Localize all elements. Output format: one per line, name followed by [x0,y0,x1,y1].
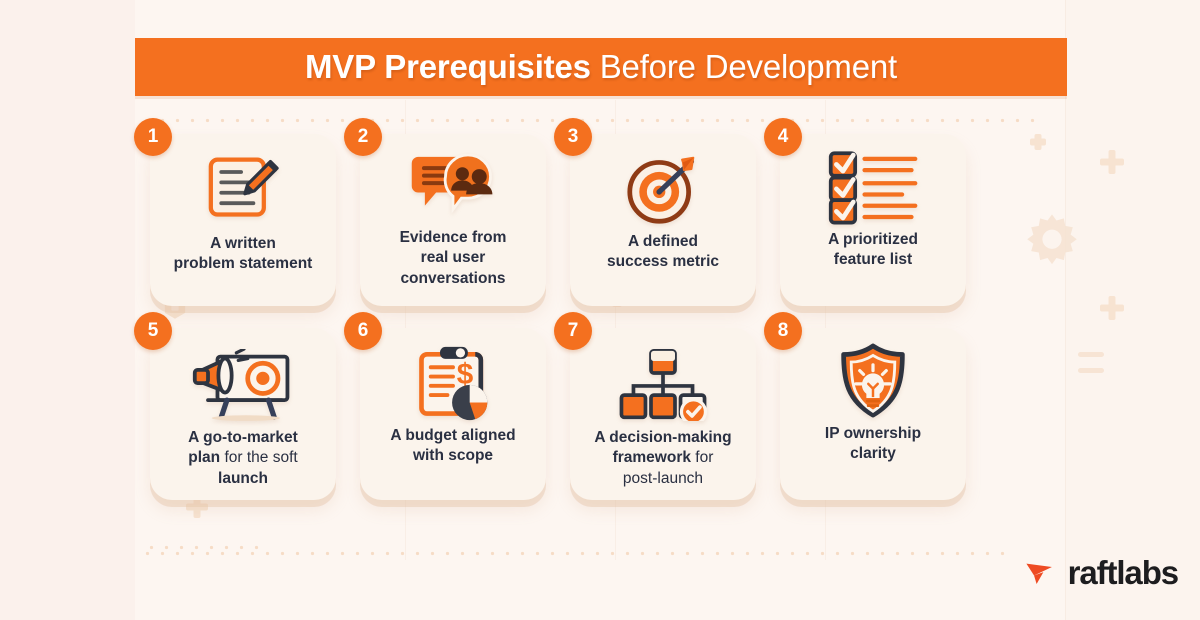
card-3-success-metric[interactable]: 3 A defined success metric [570,134,756,306]
card-2-user-evidence[interactable]: 2 [360,134,546,306]
card-5-caption-line2-light: for the soft [220,449,298,466]
decor-dotted-line [144,545,264,550]
decor-plus-icon [1100,296,1124,320]
card-4-caption-line2: feature list [834,251,912,268]
card-2-caption-line2: real user [421,249,486,266]
card-4-caption: A prioritized feature list [816,230,930,271]
card-7-caption-line1: A decision-making [594,429,731,446]
card-8-caption: IP ownership clarity [813,424,933,465]
card-7-caption-line3: post-launch [623,470,703,487]
target-arrow-icon [623,146,703,232]
card-6-budget-scope[interactable]: 6 $ [360,328,546,500]
background-left-strip [0,0,135,620]
document-pencil-icon [205,146,281,232]
infographic-canvas: MVP Prerequisites Before Development 1 [0,0,1200,620]
decor-dotted-line [140,551,1010,556]
card-8-caption-line2: clarity [850,445,896,462]
card-2-caption-line1: Evidence from [400,229,507,246]
card-5-caption: A go-to-market plan for the soft launch [176,428,310,489]
card-3-caption-line2: success metric [607,253,719,270]
org-chart-check-icon [617,342,709,428]
card-4-prioritized-features[interactable]: 4 [780,134,966,306]
card-2-caption: Evidence from real user conversations [388,228,519,289]
shield-lightbulb-icon [837,338,909,424]
card-3-caption-line1: A defined [628,233,698,250]
card-5-caption-line2-bold: plan [188,449,220,466]
decor-dotted-line [140,118,1040,123]
card-1-written-problem-statement[interactable]: 1 [150,134,336,306]
decor-dash [1078,368,1104,373]
card-6-caption: A budget aligned with scope [378,426,527,467]
card-5-go-to-market-plan[interactable]: 5 [150,328,336,500]
card-7-caption-line2-light: for [691,449,713,466]
card-1-caption-line1: A written [210,235,276,252]
page-title-bold: MVP Prerequisites [305,48,591,85]
cards-row-1: 1 [150,134,1050,306]
decor-dash [1078,352,1104,357]
background-right-strip [1065,0,1200,620]
card-5-number-badge: 5 [134,312,172,350]
title-banner: MVP Prerequisites Before Development [135,38,1067,96]
card-2-caption-line3: conversations [400,270,505,287]
checklist-icon [827,144,919,230]
card-1-caption: A written problem statement [162,234,325,275]
decor-plus-icon [1100,150,1124,174]
card-7-caption-line2-bold: framework [613,449,691,466]
card-5-caption-line1: A go-to-market [188,429,298,446]
page-title: MVP Prerequisites Before Development [305,48,897,86]
card-4-number-badge: 4 [764,118,802,156]
cards-row-2: 5 [150,328,1050,500]
card-7-decision-framework[interactable]: 7 A decisio [570,328,756,500]
card-3-caption: A defined success metric [595,232,731,273]
card-4-caption-line1: A prioritized [828,231,918,248]
card-7-caption: A decision-making framework for post-lau… [582,428,743,489]
megaphone-board-icon [191,342,295,428]
raftlabs-triangle-mark [1023,556,1057,590]
card-7-number-badge: 7 [554,312,592,350]
page-title-light: Before Development [591,48,897,85]
card-6-number-badge: 6 [344,312,382,350]
cards-grid: 1 [150,134,1050,500]
card-8-caption-line1: IP ownership [825,425,921,442]
card-6-caption-line2: with scope [413,447,493,464]
card-3-number-badge: 3 [554,118,592,156]
card-8-ip-ownership[interactable]: 8 [780,328,966,500]
card-1-number-badge: 1 [134,118,172,156]
card-6-caption-line1: A budget aligned [390,427,515,444]
card-1-caption-line2: problem statement [174,255,313,272]
card-5-caption-line3: launch [218,470,268,487]
card-2-number-badge: 2 [344,118,382,156]
raftlabs-logo[interactable]: raftlabs [1023,554,1178,592]
raftlabs-wordmark: raftlabs [1068,554,1178,592]
speech-bubbles-people-icon [408,142,498,228]
card-8-number-badge: 8 [764,312,802,350]
clipboard-budget-piechart-icon: $ [412,340,494,426]
